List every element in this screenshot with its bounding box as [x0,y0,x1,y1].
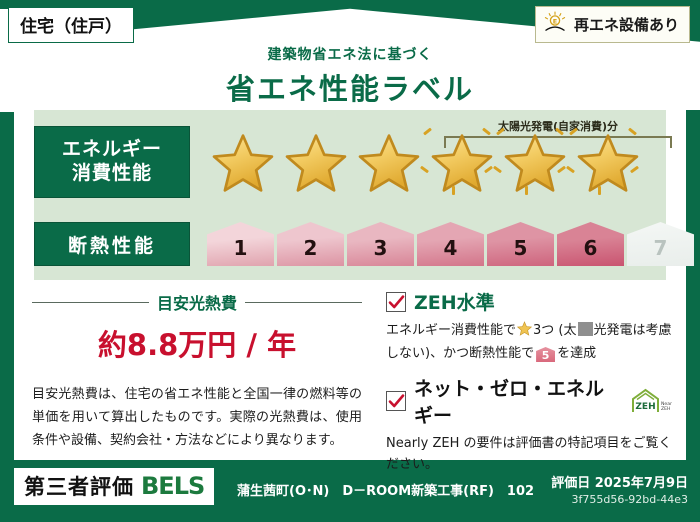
insulation-level-6: 6 [557,222,624,266]
zeh-section: ZEH水準 エネルギー消費性能で3つ (太光発電は考慮しない)、かつ断熱性能で5… [386,288,672,485]
zeh-body-text-2: 3つ (太 [533,323,576,338]
star-icon [503,132,567,194]
energy-performance-label: 住宅（住戸） E 再エネ設備あり 建築物省エネ法に基づく 省エネ性能ラベル [0,0,700,522]
zeh-standard-body: エネルギー消費性能で3つ (太光発電は考慮しない)、かつ断熱性能で5を達成 [386,320,672,364]
footer: 第三者評価 BELS 蒲生茜町(O･N) D－ROOM新築工事(RF) 102 … [0,460,700,522]
utility-cost-value: 約8.8万円 / 年 [32,322,362,364]
inline-insulation-level: 5 [536,347,555,362]
energy-performance-row: エネルギー 消費性能 [34,124,645,200]
zeh-body-text-1: エネルギー消費性能で [386,323,516,338]
insulation-level-7: 7 [627,222,694,266]
insulation-level-5: 5 [487,222,554,266]
heading-rule-left [32,302,149,303]
zeh-standard-checkbox[interactable] [386,292,406,312]
star-2 [280,124,353,200]
insulation-level-4: 4 [417,222,484,266]
energy-row-label-line1: エネルギー [35,138,189,162]
bels-certification-badge: 第三者評価 BELS [14,468,214,505]
star-6 [572,124,645,200]
insulation-level-3: 3 [347,222,414,266]
evaluation-id: 3f755d56-92bd-44e3 [551,493,688,506]
sparkle-mark [598,186,601,195]
check-icon [388,294,405,311]
performance-band: 太陽光発電(自家消費)分 エネルギー 消費性能 断熱性能 1234567 [34,110,666,280]
net-zero-energy-checkbox[interactable] [386,391,406,411]
category-tag: 住宅（住戸） [8,7,134,43]
utility-cost-heading: 目安光熱費 [32,290,362,314]
check-icon [388,393,405,410]
solar-sun-icon: E [543,11,567,38]
bels-en-label: BELS [141,472,204,500]
star-icon [357,132,421,194]
sparkle-mark [452,186,455,195]
utility-cost-note: 目安光熱費は、住宅の省エネ性能と全国一律の燃料等の単価を用いて算出したものです。… [32,384,362,452]
net-zero-energy-title: ネット・ゼロ・エネルギー [414,374,618,428]
redacted-character [578,322,593,336]
insulation-performance-row: 断熱性能 1234567 [34,222,697,266]
insulation-level-scale: 1234567 [207,222,697,266]
svg-text:ZEH: ZEH [635,402,655,412]
title-subtitle: 建築物省エネ法に基づく [0,44,700,64]
main-panel: 太陽光発電(自家消費)分 エネルギー 消費性能 断熱性能 1234567 [14,100,686,460]
renewable-badge-label: 再エネ設備あり [574,14,679,35]
zeh-logo-sub2: ZEH [661,406,671,412]
insulation-row-label: 断熱性能 [34,222,190,266]
sparkle-mark [525,186,528,195]
zeh-body-text-4: を達成 [557,346,596,361]
zeh-standard-title: ZEH水準 [414,288,495,315]
evaluation-info: 評価日 2025年7月9日 3f755d56-92bd-44e3 [551,472,688,506]
star-1 [207,124,280,200]
lower-content: 目安光熱費 約8.8万円 / 年 目安光熱費は、住宅の省エネ性能と全国一律の燃料… [14,290,686,460]
evaluation-date: 評価日 2025年7月9日 [551,472,688,491]
star-4 [426,124,499,200]
insulation-level-1: 1 [207,222,274,266]
page-title: 省エネ性能ラベル [0,66,700,108]
utility-cost-section: 目安光熱費 約8.8万円 / 年 目安光熱費は、住宅の省エネ性能と全国一律の燃料… [32,290,362,452]
label-title-block: 建築物省エネ法に基づく 省エネ性能ラベル [0,44,700,108]
zeh-house-logo: ZEH Nearly ZEH [630,388,672,414]
star-icon [284,132,348,194]
insulation-level-2: 2 [277,222,344,266]
energy-row-label: エネルギー 消費性能 [34,126,190,198]
renewable-energy-badge: E 再エネ設備あり [535,6,690,43]
insulation-row-label-text: 断熱性能 [35,231,189,258]
heading-rule-right [245,302,362,303]
energy-row-label-line2: 消費性能 [35,162,189,186]
property-name: 蒲生茜町(O･N) D－ROOM新築工事(RF) 102 [237,480,534,499]
utility-cost-heading-text: 目安光熱費 [157,290,237,314]
bels-jp-label: 第三者評価 [24,471,134,501]
star-icon [430,132,494,194]
star-icon [576,132,640,194]
inline-star-icon [517,321,532,343]
star-rating [207,124,645,200]
star-5 [499,124,572,200]
star-3 [353,124,426,200]
svg-text:E: E [553,17,557,25]
net-zero-energy-heading: ネット・ゼロ・エネルギー ZEH Nearly ZEH [386,374,672,428]
zeh-standard-item: ZEH水準 エネルギー消費性能で3つ (太光発電は考慮しない)、かつ断熱性能で5… [386,288,672,364]
zeh-standard-heading: ZEH水準 [386,288,672,315]
star-icon [211,132,275,194]
